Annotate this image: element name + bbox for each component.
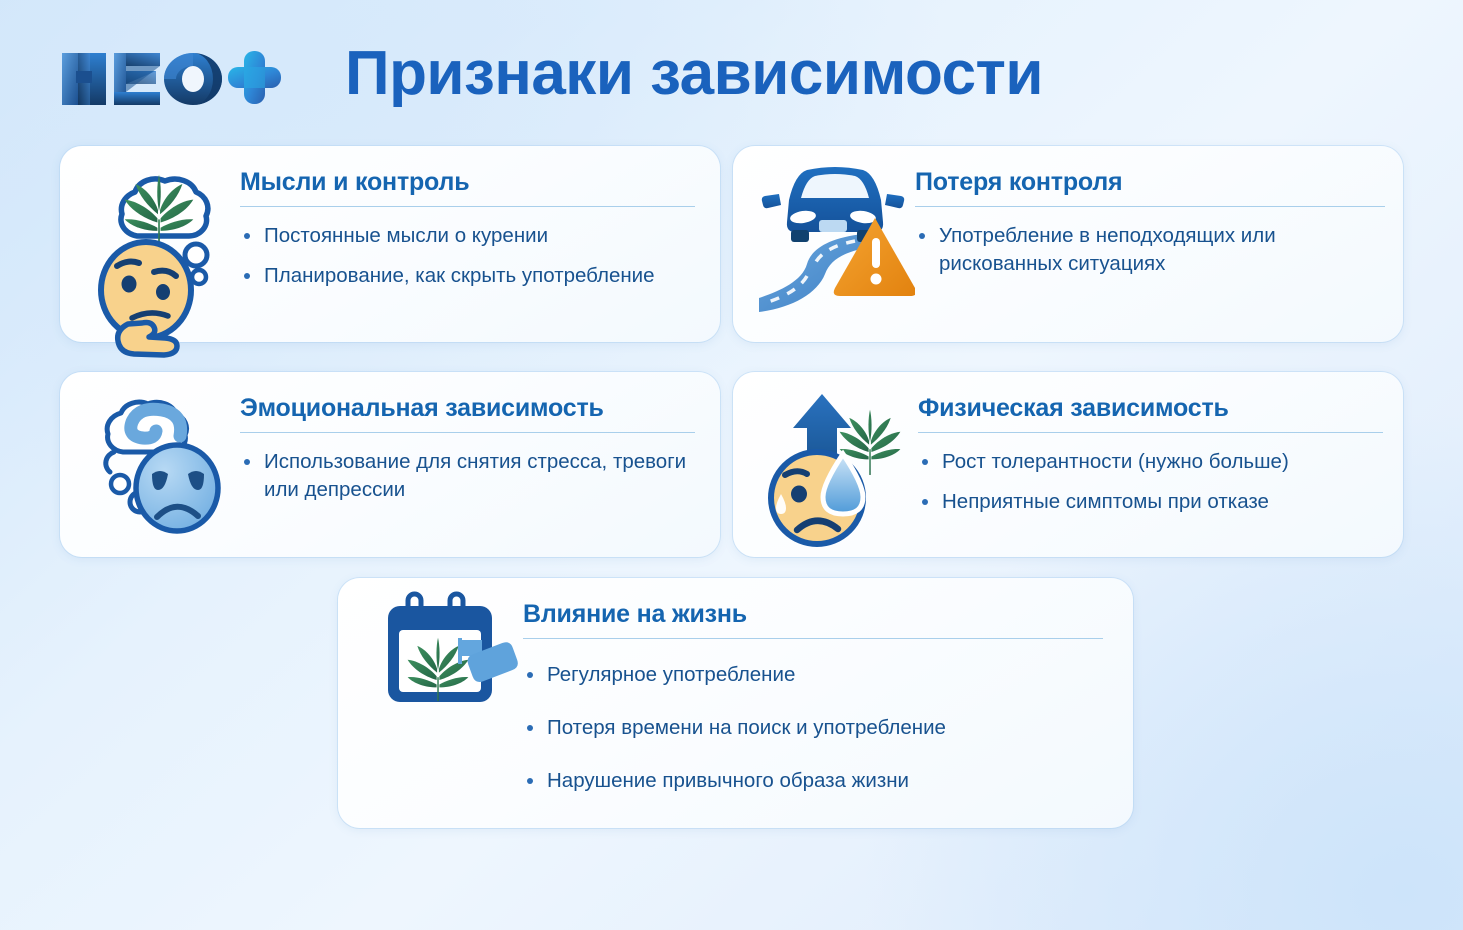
bullet-list: Рост толерантности (нужно больше) Неприя… <box>918 448 1383 517</box>
card-impact-on-life: Влияние на жизнь Регулярное употребление… <box>338 578 1133 828</box>
bullet-list: Регулярное употребление Потеря времени н… <box>523 661 1103 796</box>
title-divider <box>918 432 1383 433</box>
bullet-text: Потеря времени на поиск и употребление <box>547 714 1103 742</box>
card-content: Влияние на жизнь Регулярное употребление… <box>523 600 1103 821</box>
bullet-list: Употребление в неподходящих или рискован… <box>915 222 1385 279</box>
card-title: Мысли и контроль <box>240 168 695 197</box>
title-divider <box>240 206 695 207</box>
list-item: Неприятные симптомы при отказе <box>918 488 1383 516</box>
card-title: Влияние на жизнь <box>523 600 1103 629</box>
bullet-list: Постоянные мысли о курении Планирование,… <box>240 222 695 291</box>
card-content: Потеря контроля Употребление в неподходя… <box>915 168 1385 278</box>
bullet-text: Нарушение привычного образа жизни <box>547 767 1103 795</box>
calendar-with-cannabis-leaf-icon <box>376 590 521 715</box>
card-title: Потеря контроля <box>915 168 1385 197</box>
list-item: Использование для снятия стресса, тревог… <box>240 448 695 505</box>
thinking-face-with-cannabis-thought-bubble-icon <box>84 162 234 347</box>
bullet-text: Неприятные симптомы при отказе <box>942 488 1383 516</box>
title-divider <box>240 432 695 433</box>
neo-plus-logo <box>60 43 285 105</box>
bullet-text: Рост толерантности (нужно больше) <box>942 448 1383 476</box>
card-loss-of-control: Потеря контроля Употребление в неподходя… <box>733 146 1403 342</box>
list-item: Употребление в неподходящих или рискован… <box>915 222 1385 279</box>
list-item: Планирование, как скрыть употребление <box>240 262 695 290</box>
card-title: Физическая зависимость <box>918 394 1383 423</box>
list-item: Постоянные мысли о курении <box>240 222 695 250</box>
list-item: Регулярное употребление <box>523 661 1103 689</box>
list-item: Нарушение привычного образа жизни <box>523 767 1103 795</box>
bullet-text: Употребление в неподходящих или рискован… <box>939 222 1385 279</box>
sweating-face-with-up-arrow-and-cannabis-icon <box>755 382 920 547</box>
car-on-road-with-warning-triangle-icon <box>755 162 915 322</box>
page-title: Признаки зависимости <box>345 38 1043 109</box>
title-divider <box>523 638 1103 639</box>
list-item: Рост толерантности (нужно больше) <box>918 448 1383 476</box>
card-content: Мысли и контроль Постоянные мысли о куре… <box>240 168 695 290</box>
card-content: Эмоциональная зависимость Использование … <box>240 394 695 504</box>
card-title: Эмоциональная зависимость <box>240 394 695 423</box>
page-header: Признаки зависимости <box>0 0 1463 145</box>
title-divider <box>915 206 1385 207</box>
list-item: Потеря времени на поиск и употребление <box>523 714 1103 742</box>
bullet-text: Постоянные мысли о курении <box>264 222 695 250</box>
bullet-text: Регулярное употребление <box>547 661 1103 689</box>
bullet-text: Использование для снятия стресса, тревог… <box>264 448 695 505</box>
sad-blue-face-with-thought-cloud-icon <box>84 390 236 545</box>
card-thoughts-and-control: Мысли и контроль Постоянные мысли о куре… <box>60 146 720 342</box>
card-content: Физическая зависимость Рост толерантност… <box>918 394 1383 516</box>
bullet-text: Планирование, как скрыть употребление <box>264 262 695 290</box>
bullet-list: Использование для снятия стресса, тревог… <box>240 448 695 505</box>
card-physical-dependence: Физическая зависимость Рост толерантност… <box>733 372 1403 557</box>
card-emotional-dependence: Эмоциональная зависимость Использование … <box>60 372 720 557</box>
